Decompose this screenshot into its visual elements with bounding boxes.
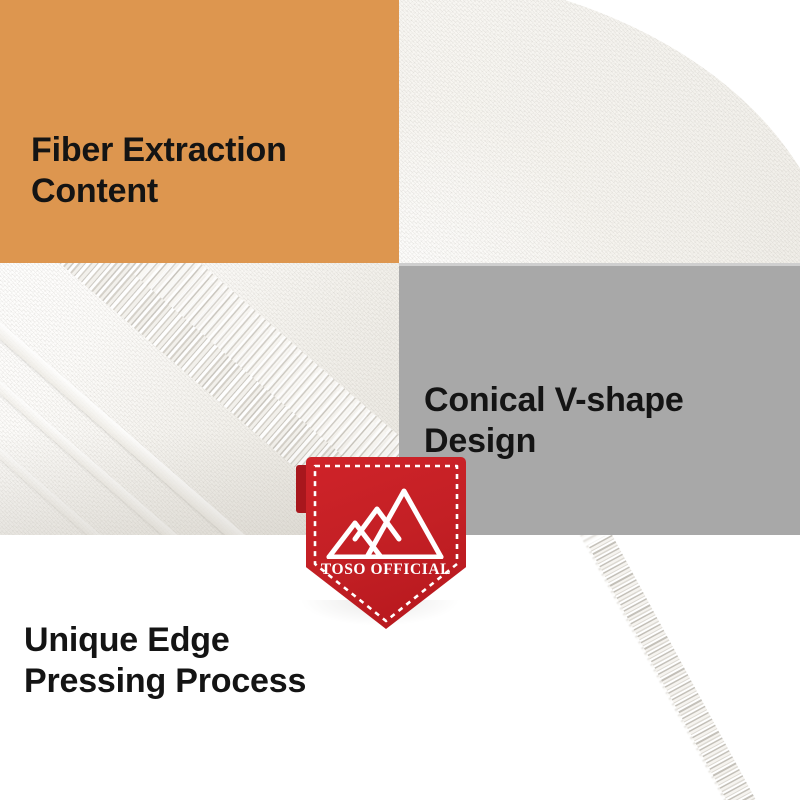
panel-cone-photo-top [399,0,800,263]
mountain-peaks-icon [319,483,453,559]
product-feature-collage: Fiber Extraction Content Conical V-shape… [0,0,800,800]
filter-cone-body-top [399,0,800,263]
caption-conical-v-shape: Conical V-shape Design [424,380,684,463]
crimped-edge-bottom [588,535,800,800]
toso-official-badge: TOSO OFFICIAL [296,457,466,632]
caption-unique-edge: Unique Edge Pressing Process [24,620,306,703]
panel-top-divider [399,263,800,266]
caption-fiber-extraction: Fiber Extraction Content [31,130,287,213]
paper-fiber-texture-top [399,0,800,263]
badge-brand-text: TOSO OFFICIAL [306,561,466,579]
